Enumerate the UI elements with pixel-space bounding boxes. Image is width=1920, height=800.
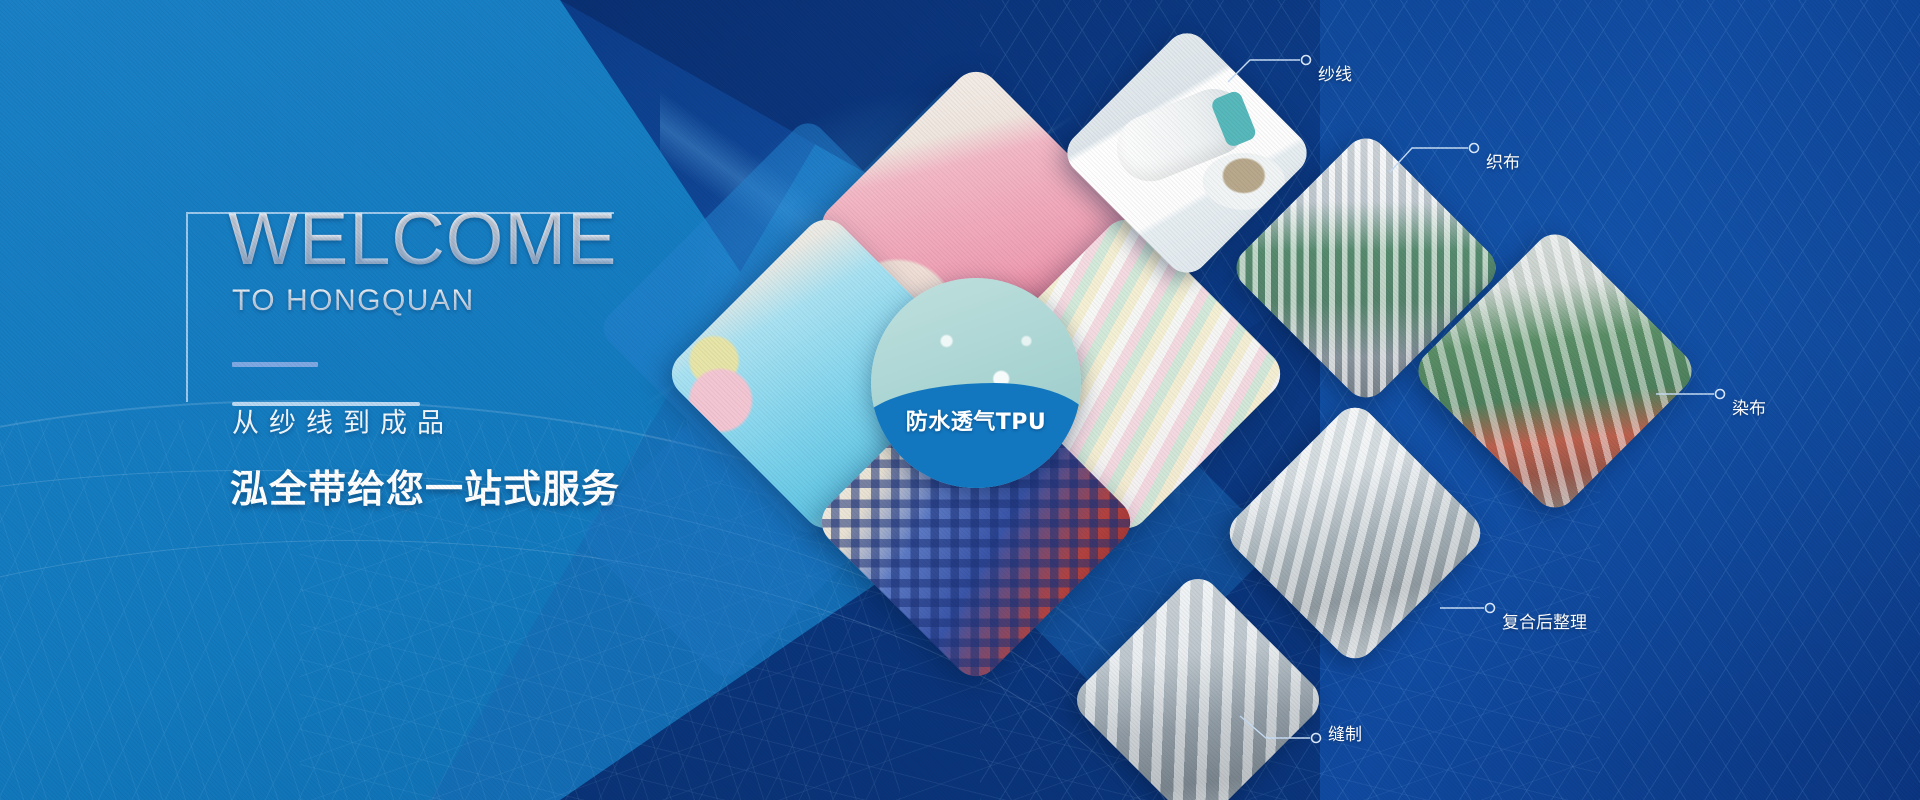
badge-label: 防水透气TPU <box>871 404 1081 436</box>
center-badge: 防水透气TPU <box>871 278 1081 488</box>
decor-bracket <box>186 212 614 402</box>
tagline: 从纱线到成品 <box>232 401 698 440</box>
divider-line <box>232 402 420 406</box>
hero-banner: WELCOME TO HONGQUAN 从纱线到成品 泓全带给您一站式服务 防水… <box>0 0 1920 800</box>
